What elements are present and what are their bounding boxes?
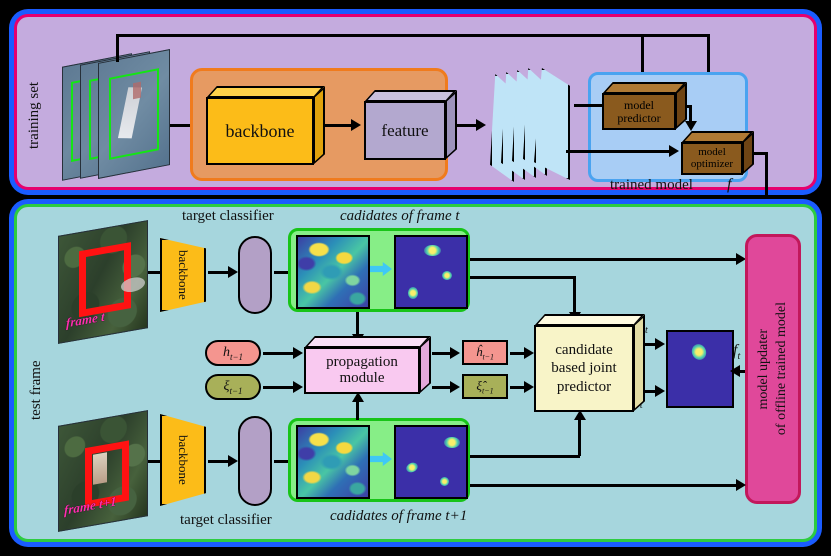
arrow-hhat-joint-head — [524, 347, 534, 359]
feature-map-stack — [490, 68, 566, 184]
rail-candbottom-joint-riser — [578, 416, 581, 456]
trained-model-caption: trained model — [610, 177, 693, 194]
score-map-top — [296, 235, 370, 309]
arrow-h-prev-prop-head — [293, 347, 303, 359]
rail-candbottom-updater-head — [736, 479, 746, 491]
backbone-trapezoid-top: backbone — [160, 238, 206, 312]
arrow-h-prev-prop — [263, 352, 295, 355]
test-frame-label: test frame — [28, 340, 50, 440]
joint-predictor-box: candidate based joint predictor — [534, 314, 634, 412]
trainset-feedback-riser — [116, 34, 119, 62]
arrow-backbone-classifier-top-head — [228, 266, 238, 278]
arrow-planes-optimizer — [566, 150, 671, 153]
feedback-to-predictor — [641, 34, 644, 74]
arrow-prop-hhat-head — [450, 347, 460, 359]
model-predictor-line1: model — [624, 99, 654, 111]
arrow-ft-feedback-head — [730, 365, 740, 377]
arrow-xi-prev-prop — [263, 386, 295, 389]
arrow-predictor-optimizer-head — [685, 121, 697, 131]
propagation-line2: module — [340, 371, 385, 386]
token-xi-prev-text: ξt−1 — [223, 379, 242, 396]
arrow-planes-optimizer-head — [669, 145, 679, 157]
token-h-prev: ht−1 — [205, 340, 261, 366]
token-xi-hat: ξ̂t−1 — [462, 374, 508, 399]
prediction-map — [666, 330, 734, 408]
joint-line2: based joint — [551, 359, 616, 377]
rail-candidates-top-joint-drop — [573, 276, 576, 314]
candidates-bottom-label: cadidates of frame t+1 — [330, 508, 467, 525]
feature-label: feature — [364, 101, 446, 160]
model-predictor-line2: predictor — [617, 112, 660, 124]
token-xi-hat-text: ξ̂t−1 — [476, 378, 493, 396]
arrow-candtop-propagation — [356, 312, 359, 336]
arrow-xihat-joint-head — [524, 381, 534, 393]
token-h-hat-text: ĥt−1 — [476, 344, 494, 362]
candidates-top-label: cadidates of frame t — [340, 208, 460, 225]
model-optimizer-box: model optimizer — [681, 131, 743, 175]
backbone-label-bottom: backbone — [175, 435, 191, 485]
backbone-label-top: backbone — [175, 250, 191, 300]
token-h-hat: ĥt−1 — [462, 340, 508, 365]
token-h-prev-text: ht−1 — [223, 345, 243, 362]
target-classifier-top — [238, 236, 272, 314]
target-classifier-label-bottom: target classifier — [180, 512, 272, 529]
arrow-joint-xit-head — [655, 385, 665, 397]
score-map-bottom — [296, 425, 370, 499]
joint-line3: predictor — [557, 378, 611, 396]
arrow-backbone-feature — [325, 124, 353, 127]
arrow-prop-xihat-head — [450, 381, 460, 393]
rail-candidates-top-joint — [470, 276, 576, 279]
propagation-line1: propagation — [326, 355, 398, 370]
target-classifier-label-top: target classifier — [182, 208, 274, 225]
trained-model-symbol: f — [727, 176, 731, 194]
target-classifier-bottom — [238, 416, 272, 506]
diagram-root: training set backbone — [0, 0, 831, 556]
rail-candbottom-updater — [470, 484, 738, 487]
rail-candbottom-joint — [470, 455, 580, 458]
model-optimizer-line2: optimizer — [691, 159, 733, 170]
arrow-xi-prev-prop-head — [293, 381, 303, 393]
frame-t-bbox — [79, 242, 131, 317]
backbone-label-train: backbone — [206, 97, 314, 165]
trainset-feedback-top — [116, 34, 710, 37]
updater-line2: of offline trained model — [774, 302, 790, 435]
arrow-backbone-classifier-bottom-head — [228, 455, 238, 467]
training-set-images — [62, 52, 167, 187]
model-predictor-box: model predictor — [602, 82, 676, 130]
model-optimizer-line1: model — [698, 147, 726, 158]
joint-line1: candidate — [555, 341, 612, 359]
model-updater-box: model updater of offline trained model — [745, 234, 801, 504]
arrow-feature-planes-head — [476, 119, 486, 131]
backbone-box-train: backbone — [206, 86, 314, 165]
token-xi-prev: ξt−1 — [205, 374, 261, 400]
training-set-label: training set — [26, 60, 48, 170]
rail-candidates-top-updater — [470, 258, 738, 261]
candidate-map-top — [394, 235, 468, 309]
updater-line1: model updater — [756, 329, 772, 409]
arrow-joint-ht-head — [655, 338, 665, 350]
arrow-backbone-classifier-top — [208, 271, 230, 274]
output-f-t: ft — [733, 342, 740, 362]
candidate-map-bottom — [394, 425, 468, 499]
backbone-trapezoid-bottom: backbone — [160, 414, 206, 506]
feature-box: feature — [364, 90, 446, 160]
arrow-backbone-feature-head — [351, 119, 361, 131]
propagation-module: propagation module — [304, 336, 420, 394]
arrow-backbone-classifier-bottom — [208, 460, 230, 463]
